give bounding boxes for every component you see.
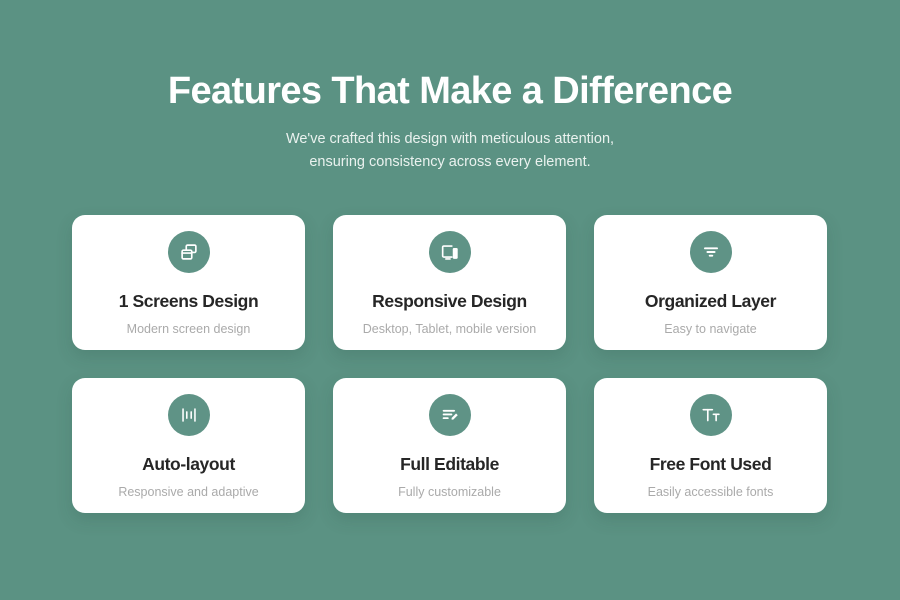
card-description: Modern screen design [127,312,251,337]
filter-layers-icon [700,241,722,263]
page-subtitle-line-1: We've crafted this design with meticulou… [0,128,900,151]
typography-icon [700,404,722,426]
icon-badge [168,394,210,436]
responsive-devices-icon [439,241,461,263]
icon-badge [168,231,210,273]
auto-layout-icon [178,404,200,426]
card-title: 1 Screens Design [119,273,259,312]
card-description: Desktop, Tablet, mobile version [363,312,536,337]
page-subtitle: We've crafted this design with meticulou… [0,128,900,174]
icon-badge [690,394,732,436]
feature-card-free-font-used[interactable]: Free Font Used Easily accessible fonts [594,378,827,513]
feature-card-auto-layout[interactable]: Auto-layout Responsive and adaptive [72,378,305,513]
card-title: Free Font Used [650,436,772,475]
card-title: Organized Layer [645,273,776,312]
icon-badge [429,394,471,436]
features-section: Features That Make a Difference We've cr… [0,0,900,600]
edit-pencil-icon [439,404,461,426]
card-description: Responsive and adaptive [118,475,258,500]
icon-badge [690,231,732,273]
card-title: Auto-layout [142,436,235,475]
page-subtitle-line-2: ensuring consistency across every elemen… [0,151,900,174]
feature-card-grid: 1 Screens Design Modern screen design Re… [72,215,828,513]
section-header: Features That Make a Difference We've cr… [0,0,900,174]
feature-card-responsive-design[interactable]: Responsive Design Desktop, Tablet, mobil… [333,215,566,350]
card-title: Full Editable [400,436,499,475]
card-description: Easily accessible fonts [648,475,774,500]
page-title: Features That Make a Difference [0,68,900,114]
icon-badge [429,231,471,273]
feature-card-full-editable[interactable]: Full Editable Fully customizable [333,378,566,513]
card-title: Responsive Design [372,273,527,312]
feature-card-screens-design[interactable]: 1 Screens Design Modern screen design [72,215,305,350]
duplicate-windows-icon [178,241,200,263]
feature-card-organized-layer[interactable]: Organized Layer Easy to navigate [594,215,827,350]
card-description: Fully customizable [398,475,501,500]
card-description: Easy to navigate [664,312,756,337]
